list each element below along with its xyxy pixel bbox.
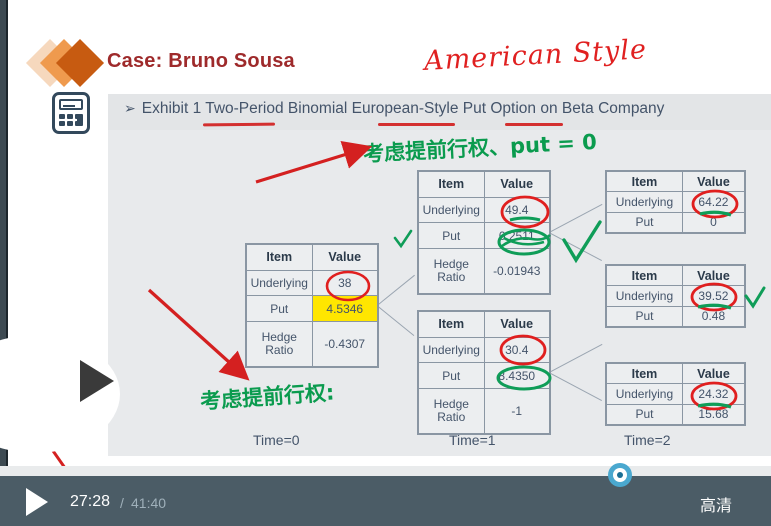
table-row: Item Value [607, 364, 745, 384]
col-header-item: Item [419, 312, 485, 338]
table-row: Item Value [419, 312, 550, 338]
table-row: Underlying 24.32 [607, 384, 745, 404]
row-label-underlying: Underlying [419, 337, 485, 363]
row-label-underlying: Underlying [607, 384, 683, 404]
quality-selector[interactable]: 高清 [700, 492, 732, 516]
cell-t1down-put: 8.4350 [484, 363, 550, 389]
table-row: Underlying 49.4 [419, 197, 550, 223]
table-time2-down: Item Value Underlying 24.32 Put 15.68 [605, 362, 746, 426]
row-label-underlying: Underlying [419, 197, 485, 223]
row-label-put: Put [419, 363, 485, 389]
bullet-arrow-icon: ➢ [124, 100, 136, 116]
row-label-put: Put [607, 306, 683, 326]
row-label-underlying: Underlying [607, 286, 683, 306]
row-label-put: Put [247, 296, 313, 322]
cell-t2mid-put: 0.48 [682, 306, 744, 326]
row-label-hedge-ratio: HedgeRatio [419, 249, 485, 294]
red-underline-3 [505, 123, 563, 126]
col-header-item: Item [607, 172, 683, 192]
table-row: Item Value [607, 266, 745, 286]
col-header-item: Item [607, 266, 683, 286]
table-time1-up: Item Value Underlying 49.4 Put 0.2511 He… [417, 170, 551, 295]
cell-t0-underlying: 38 [312, 270, 378, 296]
cell-t1up-underlying: 49.4 [484, 197, 550, 223]
video-player-screen: Case: Bruno Sousa ➢Exhibit 1 Two-Period … [0, 0, 771, 526]
cell-t1up-hedge-ratio: -0.01943 [484, 249, 550, 294]
progress-handle-core [617, 472, 623, 478]
table-row: HedgeRatio -0.01943 [419, 249, 550, 294]
table-time0: Item Value Underlying 38 Put 4.5346 Hedg… [245, 243, 379, 368]
center-play-icon[interactable] [80, 360, 114, 402]
time-label-t0: Time=0 [253, 432, 300, 448]
row-label-put: Put [607, 212, 683, 232]
table-row: Underlying 38 [247, 270, 378, 296]
progress-track[interactable] [0, 466, 771, 476]
col-header-value: Value [312, 245, 378, 271]
progress-handle[interactable] [608, 463, 632, 487]
table-row: Put 0.2511 [419, 223, 550, 249]
calculator-screen-icon [59, 99, 83, 110]
row-label-hedge-ratio: HedgeRatio [247, 322, 313, 367]
progress-handle-inner [613, 468, 627, 482]
table-row: Underlying 64.22 [607, 192, 745, 212]
time-label-t2: Time=2 [624, 432, 671, 448]
red-underline-2 [378, 123, 455, 126]
table-row: Underlying 39.52 [607, 286, 745, 306]
table-row: Put 15.68 [607, 404, 745, 424]
col-header-value: Value [484, 312, 550, 338]
table-time2-up: Item Value Underlying 64.22 Put 0 [605, 170, 746, 234]
col-header-item: Item [247, 245, 313, 271]
cell-t2up-underlying: 64.22 [682, 192, 744, 212]
table-row: Put 0 [607, 212, 745, 232]
exhibit-title-text: Exhibit 1 Two-Period Binomial European-S… [142, 100, 665, 117]
table-row: HedgeRatio -0.4307 [247, 322, 378, 367]
cell-t1up-put: 0.2511 [484, 223, 550, 249]
cell-t2down-put: 15.68 [682, 404, 744, 424]
table-row: Put 4.5346 [247, 296, 378, 322]
table-row: HedgeRatio -1 [419, 389, 550, 434]
table-row: Put 0.48 [607, 306, 745, 326]
cell-t2down-underlying: 24.32 [682, 384, 744, 404]
row-label-underlying: Underlying [607, 192, 683, 212]
table-row: Underlying 30.4 [419, 337, 550, 363]
total-time-label: 41:40 [131, 495, 166, 511]
annotation-american-style: American Style [423, 34, 647, 77]
col-header-item: Item [607, 364, 683, 384]
col-header-value: Value [484, 172, 550, 198]
calculator-keys-icon [59, 114, 83, 127]
slide-canvas: Case: Bruno Sousa ➢Exhibit 1 Two-Period … [8, 0, 771, 466]
col-header-value: Value [682, 266, 744, 286]
cell-t1down-underlying: 30.4 [484, 337, 550, 363]
company-diamond-logo [33, 36, 103, 92]
table-row: Item Value [607, 172, 745, 192]
row-label-hedge-ratio: HedgeRatio [419, 389, 485, 434]
cell-t2mid-underlying: 39.52 [682, 286, 744, 306]
cell-t2up-put: 0 [682, 212, 744, 232]
cell-t1down-hedge-ratio: -1 [484, 389, 550, 434]
calculator-icon [52, 92, 90, 134]
cell-t0-hedge-ratio: -0.4307 [312, 322, 378, 367]
table-row: Put 8.4350 [419, 363, 550, 389]
table-time2-mid: Item Value Underlying 39.52 Put 0.48 [605, 264, 746, 328]
current-time-label: 27:28 [70, 493, 110, 511]
table-row: Item Value [247, 245, 378, 271]
col-header-item: Item [419, 172, 485, 198]
table-row: Item Value [419, 172, 550, 198]
cell-t0-put: 4.5346 [312, 296, 378, 322]
col-header-value: Value [682, 364, 744, 384]
row-label-put: Put [419, 223, 485, 249]
exhibit-heading: ➢Exhibit 1 Two-Period Binomial European-… [124, 100, 664, 118]
time-label-t1: Time=1 [449, 432, 496, 448]
play-button[interactable] [26, 488, 48, 516]
row-label-underlying: Underlying [247, 270, 313, 296]
table-time1-down: Item Value Underlying 30.4 Put 8.4350 He… [417, 310, 551, 435]
time-separator: / [120, 495, 124, 511]
row-label-put: Put [607, 404, 683, 424]
col-header-value: Value [682, 172, 744, 192]
page-title: Case: Bruno Sousa [107, 50, 295, 73]
